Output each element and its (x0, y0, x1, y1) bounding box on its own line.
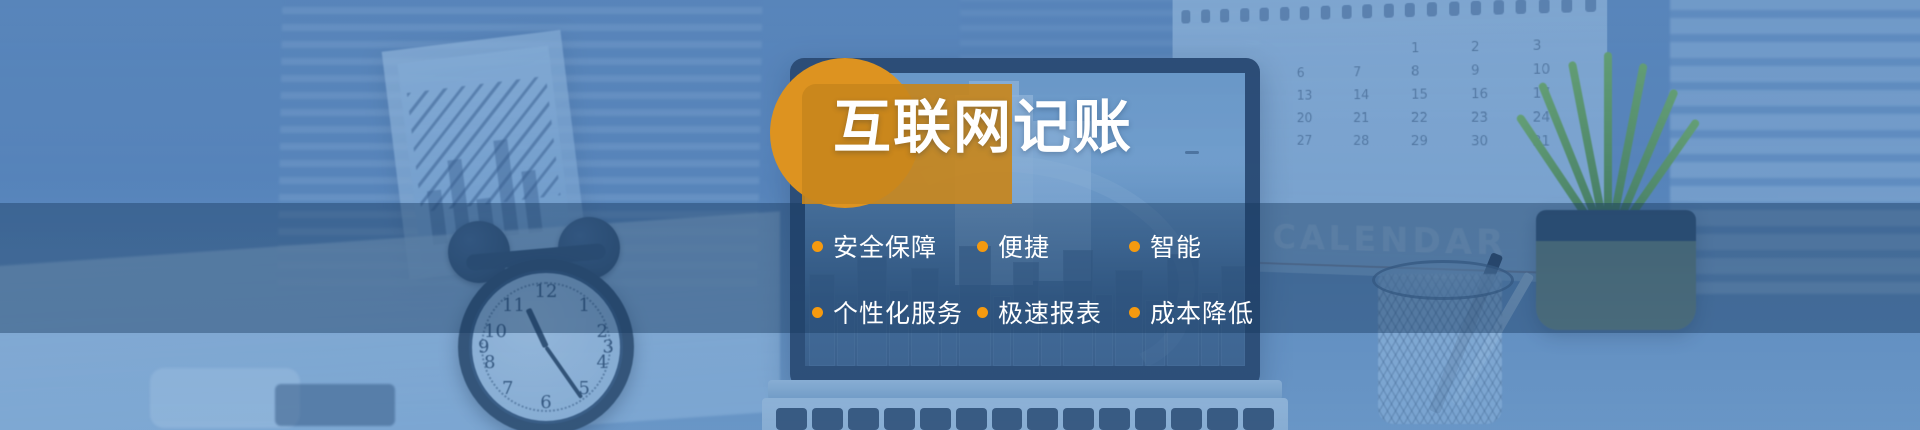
feature-item-cost-reduction[interactable]: 成本降低 (1129, 294, 1254, 330)
feature-label: 安全保障 (833, 228, 937, 264)
feature-item-fast-reports[interactable]: 极速报表 (977, 294, 1129, 330)
bullet-dot-icon (1129, 307, 1140, 318)
bullet-dot-icon (1129, 241, 1140, 252)
feature-item-security[interactable]: 安全保障 (812, 228, 977, 264)
feature-label: 个性化服务 (833, 294, 963, 330)
feature-row-1: 安全保障 便捷 智能 (812, 228, 1332, 264)
feature-list: 安全保障 便捷 智能 个性化服务 极速报表 (812, 228, 1332, 330)
feature-item-convenient[interactable]: 便捷 (977, 228, 1129, 264)
bullet-dot-icon (812, 241, 823, 252)
feature-label: 便捷 (998, 228, 1050, 264)
feature-item-personalized-service[interactable]: 个性化服务 (812, 294, 977, 330)
banner-content: 互联网记账 安全保障 便捷 智能 个性化服务 (0, 0, 1920, 430)
feature-row-2: 个性化服务 极速报表 成本降低 (812, 294, 1332, 330)
bullet-dot-icon (977, 241, 988, 252)
bullet-dot-icon (977, 307, 988, 318)
promo-banner: 12 1 2 3 4 5 6 7 8 9 10 11 (0, 0, 1920, 430)
feature-label: 极速报表 (998, 294, 1102, 330)
feature-label: 成本降低 (1150, 294, 1254, 330)
bullet-dot-icon (812, 307, 823, 318)
feature-item-intelligent[interactable]: 智能 (1129, 228, 1202, 264)
page-title: 互联网记账 (833, 98, 1133, 156)
feature-label: 智能 (1150, 228, 1202, 264)
